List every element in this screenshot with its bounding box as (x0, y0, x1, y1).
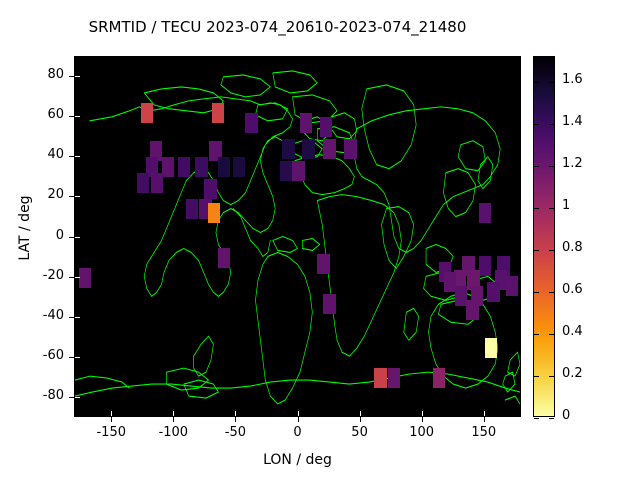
y-tick (69, 277, 74, 278)
y-tick (69, 76, 74, 77)
x-tick-label: 50 (330, 425, 390, 440)
x-tick (235, 417, 236, 422)
colorbar-tick-label: 0.6 (562, 282, 612, 297)
colorbar-gradient (534, 57, 554, 416)
heatmap-cell (485, 338, 497, 358)
x-tick-label: 150 (454, 425, 514, 440)
y-tick (69, 357, 74, 358)
heatmap-cell (208, 203, 220, 223)
heatmap-cell (195, 157, 207, 177)
heatmap-cell (344, 139, 356, 159)
y-axis-title: LAT / deg (17, 148, 33, 308)
x-tick-label: -50 (205, 425, 265, 440)
colorbar-tick (549, 250, 554, 251)
y-tick-inner (75, 397, 80, 398)
colorbar-tick (549, 334, 554, 335)
heatmap-cell (300, 113, 312, 133)
y-tick (69, 196, 74, 197)
x-tick-inner (173, 411, 174, 416)
colorbar-tick (549, 166, 554, 167)
colorbar-tick-label: 1.4 (562, 114, 612, 129)
y-tick-inner (75, 317, 80, 318)
heatmap-cell (212, 103, 224, 123)
heatmap-cell (79, 268, 91, 288)
y-tick-inner (75, 357, 80, 358)
colorbar-tick-label: 1.2 (562, 156, 612, 171)
heatmap-cell (323, 294, 335, 314)
y-tick-label: 80 (14, 67, 64, 82)
colorbar-tick (549, 82, 554, 83)
colorbar-tick (534, 418, 539, 419)
heatmap-cell (280, 161, 292, 181)
x-tick (422, 417, 423, 422)
y-tick-inner (75, 76, 80, 77)
heatmap-cell (218, 157, 230, 177)
x-tick (298, 417, 299, 422)
heatmap-cell (137, 173, 149, 193)
colorbar-tick (534, 82, 539, 83)
colorbar-tick (534, 208, 539, 209)
colorbar-tick (549, 124, 554, 125)
colorbar-tick (534, 166, 539, 167)
heatmap-cell (186, 199, 198, 219)
heatmap-cell (292, 161, 304, 181)
y-tick (69, 116, 74, 117)
colorbar-tick-label: 1 (562, 198, 612, 213)
colorbar-tick-label: 0.4 (562, 324, 612, 339)
y-tick-inner (75, 196, 80, 197)
colorbar-tick (549, 376, 554, 377)
heatmap-cell (233, 157, 245, 177)
x-tick-label: -100 (143, 425, 203, 440)
heatmap-cell (178, 157, 190, 177)
heatmap-cell (374, 368, 386, 388)
colorbar-tick (549, 292, 554, 293)
x-tick (484, 417, 485, 422)
x-axis-title: LON / deg (74, 452, 521, 468)
x-tick (111, 417, 112, 422)
colorbar-tick (534, 334, 539, 335)
colorbar-tick (534, 250, 539, 251)
heatmap-cell (323, 139, 335, 159)
colorbar-tick (534, 124, 539, 125)
colorbar-tick-label: 0 (562, 408, 612, 423)
y-tick-label: -60 (14, 348, 64, 363)
x-tick-inner (111, 411, 112, 416)
heatmap-cell (204, 179, 216, 199)
map-plot-area[interactable] (74, 56, 521, 417)
heatmap-cell (433, 368, 445, 388)
y-tick (69, 397, 74, 398)
x-tick (173, 417, 174, 422)
x-tick-label: -150 (81, 425, 141, 440)
colorbar-tick-label: 1.6 (562, 72, 612, 87)
x-tick-inner (235, 411, 236, 416)
y-tick-label: -40 (14, 308, 64, 323)
colorbar-tick-label: 0.2 (562, 366, 612, 381)
x-tick-inner (484, 411, 485, 416)
heatmap-cell (487, 282, 499, 302)
colorbar-tick (534, 292, 539, 293)
colorbar[interactable] (533, 56, 555, 417)
heatmap-cell (320, 117, 332, 137)
x-tick (360, 417, 361, 422)
y-tick-label: 60 (14, 107, 64, 122)
y-tick (69, 237, 74, 238)
x-tick-inner (360, 411, 361, 416)
colorbar-tick-label: 0.8 (562, 240, 612, 255)
y-tick (69, 156, 74, 157)
page-title: SRMTID / TECU 2023-074_20610-2023-074_21… (0, 18, 555, 36)
heatmap-cell (506, 276, 518, 296)
heatmap-cell (162, 157, 174, 177)
heatmap-cell (141, 103, 153, 123)
x-tick-inner (298, 411, 299, 416)
heatmap-cells (75, 57, 520, 416)
y-tick-inner (75, 116, 80, 117)
heatmap-cell (302, 139, 314, 159)
y-tick-inner (75, 277, 80, 278)
heatmap-cell (479, 256, 491, 276)
heatmap-cell (479, 203, 491, 223)
colorbar-tick (549, 208, 554, 209)
x-tick-label: 0 (268, 425, 328, 440)
y-tick-inner (75, 156, 80, 157)
heatmap-cell (245, 113, 257, 133)
figure-canvas: SRMTID / TECU 2023-074_20610-2023-074_21… (0, 0, 640, 480)
y-tick (69, 317, 74, 318)
heatmap-cell (388, 368, 400, 388)
heatmap-cell (151, 173, 163, 193)
heatmap-cell (466, 300, 478, 320)
heatmap-cell (218, 248, 230, 268)
y-tick-inner (75, 237, 80, 238)
colorbar-tick (534, 376, 539, 377)
heatmap-cell (282, 139, 294, 159)
colorbar-tick (549, 418, 554, 419)
y-tick-label: -80 (14, 388, 64, 403)
x-tick-inner (422, 411, 423, 416)
heatmap-cell (317, 254, 329, 274)
x-tick-label: 100 (392, 425, 452, 440)
